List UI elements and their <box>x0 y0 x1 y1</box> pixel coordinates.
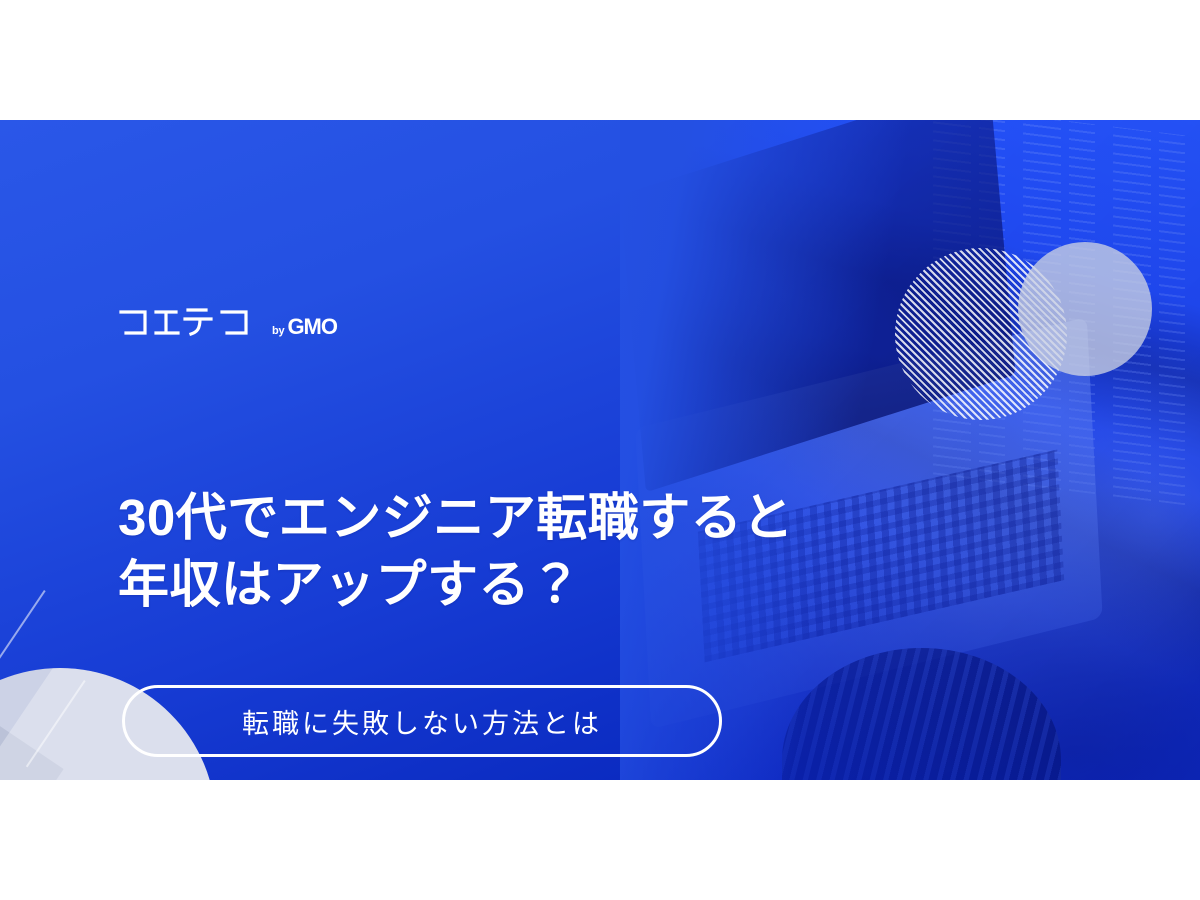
cta-button-label: 転職に失敗しない方法とは <box>242 702 602 741</box>
logo-by-text: by <box>272 325 284 337</box>
headline-line-1: 30代でエンジニア転職すると <box>118 484 794 551</box>
koeteco-logotype-icon <box>118 302 258 342</box>
page-title: 30代でエンジニア転職すると 年収はアップする？ <box>118 484 794 619</box>
brand-logo[interactable]: by GMO <box>118 302 337 342</box>
gmo-lockup: by GMO <box>272 314 337 342</box>
hero-photo <box>620 120 1200 780</box>
hero-banner: by GMO 30代でエンジニア転職すると 年収はアップする？ 転職に失敗しない… <box>0 120 1200 780</box>
photo-left-fade <box>620 120 1200 780</box>
headline-line-2: 年収はアップする？ <box>118 551 794 618</box>
page-canvas: by GMO 30代でエンジニア転職すると 年収はアップする？ 転職に失敗しない… <box>0 0 1200 900</box>
logo-gmo-text: GMO <box>287 314 337 340</box>
cta-button[interactable]: 転職に失敗しない方法とは <box>122 685 722 757</box>
solid-circle-icon <box>1018 242 1152 376</box>
